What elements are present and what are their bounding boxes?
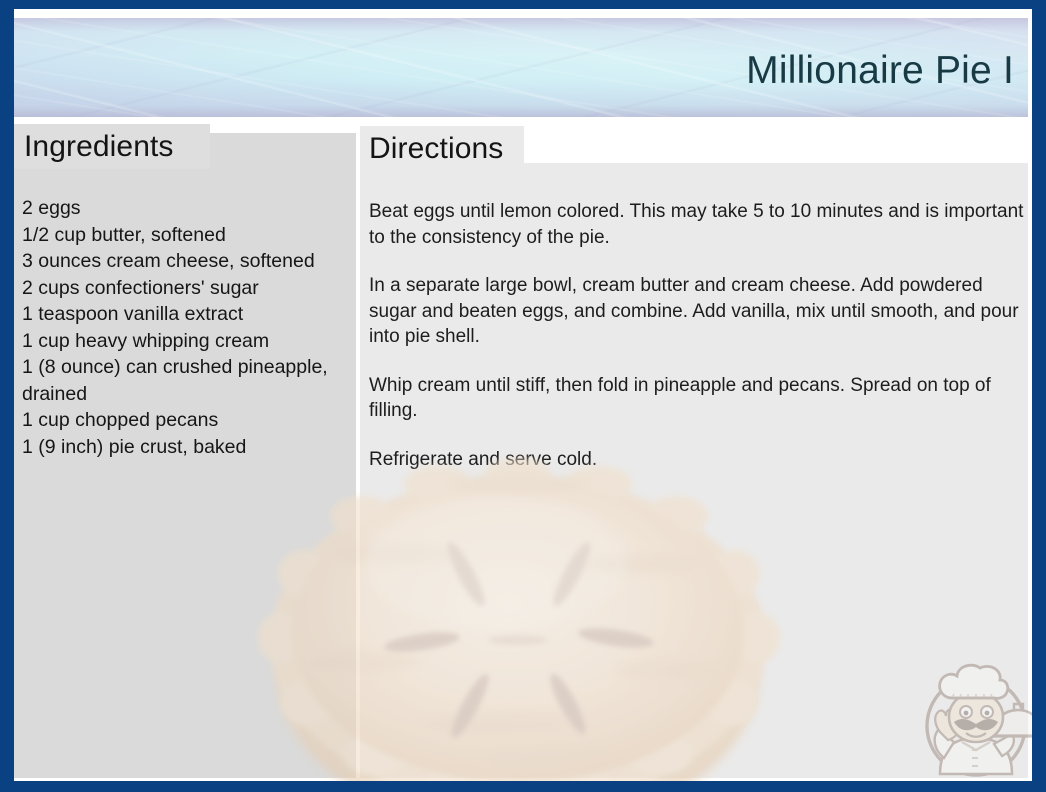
list-item: 1 teaspoon vanilla extract — [22, 301, 356, 328]
list-item: 2 eggs — [22, 195, 356, 222]
list-item: 1 cup chopped pecans — [22, 407, 356, 434]
direction-step: Beat eggs until lemon colored. This may … — [369, 199, 1027, 250]
recipe-card: Millionaire Pie I Ingredients 2 eggs 1/2… — [0, 0, 1046, 792]
list-item: 1 (9 inch) pie crust, baked — [22, 434, 356, 461]
list-item: 3 ounces cream cheese, softened — [22, 248, 356, 275]
direction-step: Refrigerate and serve cold. — [369, 447, 1027, 473]
direction-step: Whip cream until stiff, then fold in pin… — [369, 373, 1027, 424]
directions-heading: Directions — [369, 132, 503, 166]
list-item: 1/2 cup butter, softened — [22, 222, 356, 249]
ingredients-heading: Ingredients — [24, 130, 174, 164]
ingredient-list: 2 eggs 1/2 cup butter, softened 3 ounces… — [22, 195, 356, 460]
direction-steps: Beat eggs until lemon colored. This may … — [369, 199, 1027, 472]
list-item: 1 cup heavy whipping cream — [22, 328, 356, 355]
direction-step: In a separate large bowl, cream butter a… — [369, 273, 1027, 350]
recipe-page: Millionaire Pie I Ingredients 2 eggs 1/2… — [14, 9, 1032, 781]
recipe-title: Millionaire Pie I — [746, 49, 1014, 93]
list-item: 1 (8 ounce) can crushed pineapple, drain… — [22, 354, 356, 407]
list-item: 2 cups confectioners' sugar — [22, 275, 356, 302]
